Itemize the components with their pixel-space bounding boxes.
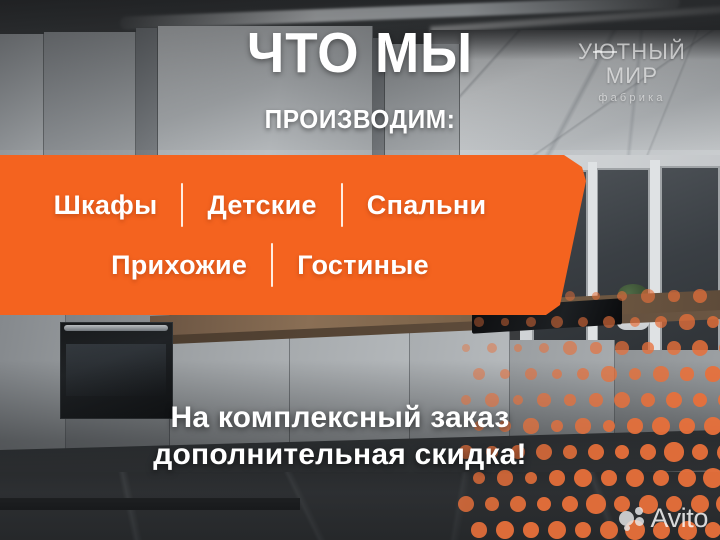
pattern-dot <box>600 521 618 539</box>
brand-logo-subtitle: фабрика <box>548 92 716 104</box>
category-row: ПрихожиеГостиные <box>87 243 453 287</box>
pattern-dot <box>601 366 616 381</box>
pattern-dot <box>577 368 590 381</box>
pattern-dot <box>707 316 720 329</box>
pattern-dot <box>615 341 629 355</box>
pattern-dot <box>629 368 642 381</box>
pattern-dot <box>523 522 539 538</box>
pattern-dot <box>462 344 470 352</box>
category-item: Спальни <box>343 190 511 221</box>
pattern-dot <box>667 341 681 355</box>
category-item: Гостиные <box>273 250 453 281</box>
pattern-dot <box>617 291 628 302</box>
pattern-dot <box>474 317 483 326</box>
pattern-dot <box>630 317 640 327</box>
advert-image: УЮТНЫЙ МИР фабрика ЧТО МЫ ПРОИЗВОДИМ: Шк… <box>0 0 720 540</box>
pattern-dot <box>641 289 655 303</box>
pattern-dot <box>716 494 720 514</box>
pattern-dot <box>693 289 707 303</box>
pattern-dot <box>551 316 563 328</box>
pattern-dot <box>642 342 653 353</box>
pattern-dot <box>603 316 616 329</box>
pattern-dot <box>548 521 566 539</box>
promo-line-2: дополнительная скидка! <box>0 437 680 474</box>
avito-watermark: Avito <box>619 505 708 532</box>
pattern-dot <box>485 497 499 511</box>
pattern-dot <box>590 342 601 353</box>
pattern-dot <box>539 343 550 354</box>
pattern-dot <box>586 494 605 513</box>
pattern-dot <box>680 367 693 380</box>
pattern-dot <box>562 496 579 513</box>
subheadline: ПРОИЗВОДИМ: <box>22 104 699 135</box>
avito-wordmark: Avito <box>650 505 708 532</box>
pattern-dot <box>473 472 486 485</box>
category-item: Прихожие <box>87 250 271 281</box>
pattern-dot <box>578 317 588 327</box>
pattern-dot <box>668 290 679 301</box>
pattern-dot <box>592 292 600 300</box>
pattern-dot <box>526 317 536 327</box>
pattern-dot <box>692 340 708 356</box>
category-item: Шкафы <box>30 190 182 221</box>
pattern-dot <box>679 314 694 329</box>
pattern-dot <box>552 369 562 379</box>
pattern-dot <box>653 366 668 381</box>
pattern-dot <box>537 497 551 511</box>
oven-handle <box>64 325 168 331</box>
category-list: ШкафыДетскиеСпальниПрихожиеГостиные <box>0 155 590 315</box>
category-item: Детские <box>183 190 340 221</box>
pattern-dot <box>525 472 538 485</box>
category-row: ШкафыДетскиеСпальни <box>30 183 511 227</box>
pattern-dot <box>487 343 498 354</box>
pattern-dot <box>471 522 486 537</box>
pattern-dot <box>496 521 514 539</box>
pattern-dot <box>525 368 537 380</box>
pattern-dot <box>514 344 522 352</box>
pattern-dot <box>563 341 576 354</box>
pattern-dot <box>510 496 526 512</box>
pattern-dot <box>655 316 668 329</box>
avito-logo-icon <box>619 507 645 531</box>
pattern-dot <box>473 368 485 380</box>
pattern-dot <box>501 318 508 325</box>
promo-line-1: На комплексный заказ <box>0 400 680 437</box>
pattern-dot <box>575 522 591 538</box>
headline: ЧТО МЫ <box>25 26 695 81</box>
pattern-dot <box>500 369 510 379</box>
pattern-dot <box>705 366 720 382</box>
promo-text: На комплексный заказ дополнительная скид… <box>0 400 720 473</box>
pattern-dot <box>458 496 474 512</box>
